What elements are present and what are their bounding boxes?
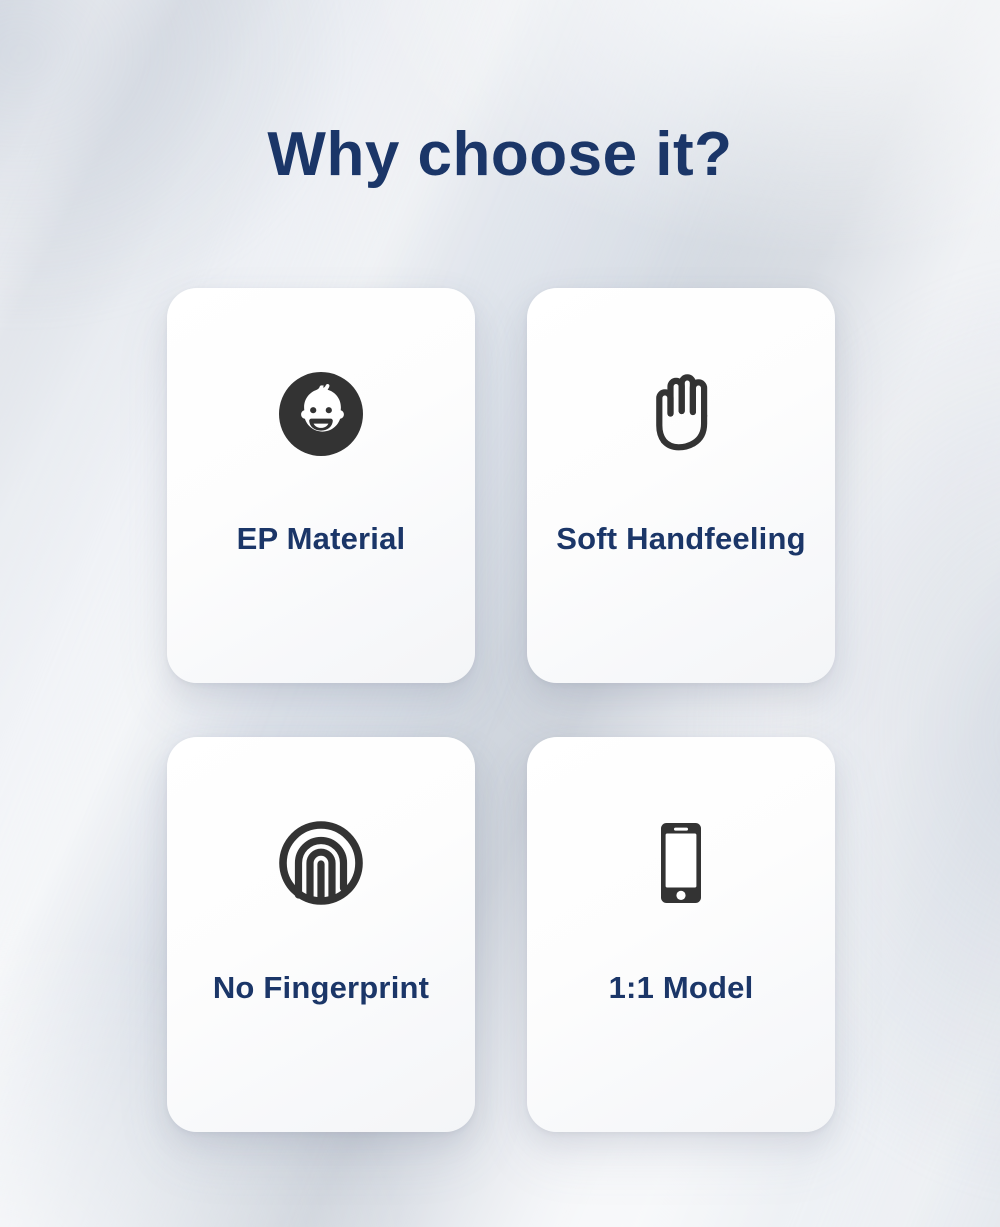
smartphone-icon xyxy=(633,815,729,911)
feature-card-model-scale[interactable]: 1:1 Model xyxy=(527,737,835,1132)
feature-card-label: EP Material xyxy=(237,520,406,558)
feature-card-ep-material[interactable]: EP Material xyxy=(167,288,475,683)
feature-card-grid: EP Material xyxy=(167,288,835,1132)
promo-banner: Why choose it? EP Material xyxy=(0,0,1000,1227)
feature-card-label: 1:1 Model xyxy=(609,969,754,1007)
feature-card-label: Soft Handfeeling xyxy=(556,520,805,558)
feature-card-no-fingerprint[interactable]: No Fingerprint xyxy=(167,737,475,1132)
fingerprint-icon xyxy=(273,815,369,911)
open-hand-icon xyxy=(633,366,729,462)
feature-card-soft-handfeeling[interactable]: Soft Handfeeling xyxy=(527,288,835,683)
feature-card-label: No Fingerprint xyxy=(213,969,429,1007)
baby-face-icon xyxy=(273,366,369,462)
page-title: Why choose it? xyxy=(0,120,1000,190)
